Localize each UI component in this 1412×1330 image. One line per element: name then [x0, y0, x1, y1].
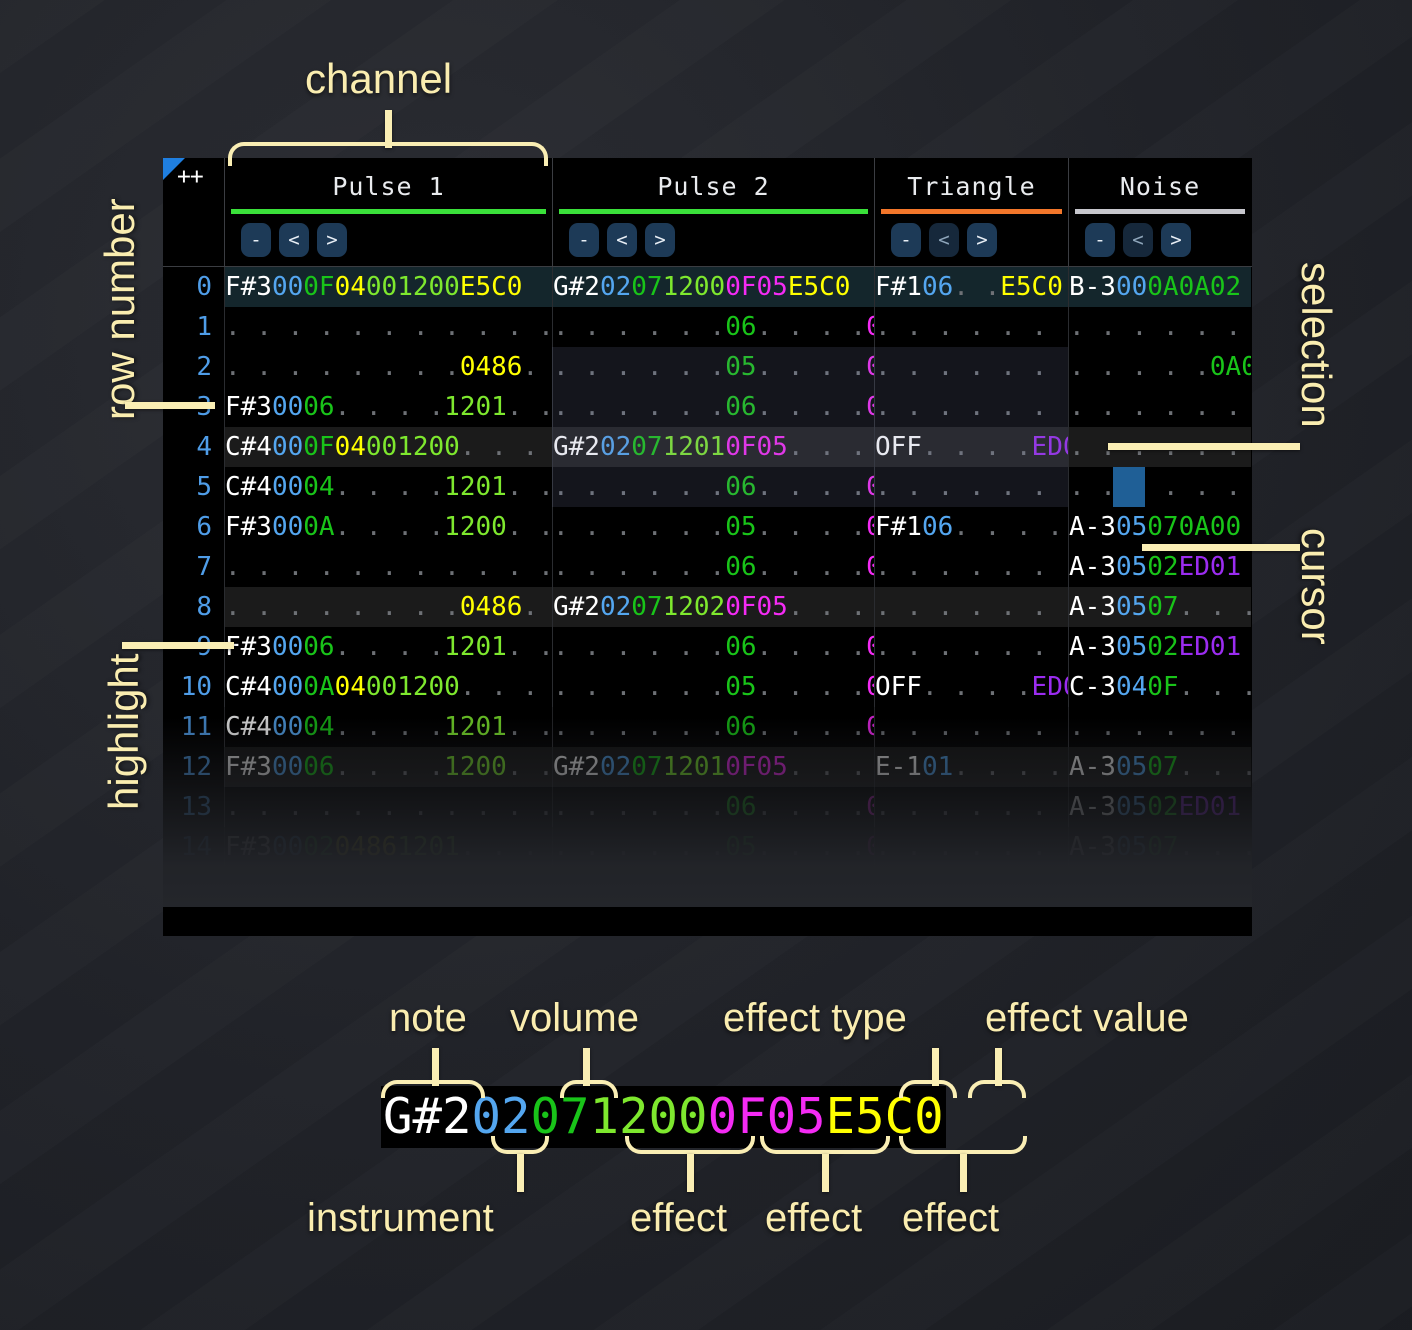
pattern-token-fx3: E5C0 — [788, 272, 851, 302]
pattern-token-vol: 0F — [303, 272, 334, 302]
pattern-cell[interactable]: G#2020712020F05. . . . — [552, 587, 874, 627]
pattern-cell[interactable]: . . . . . . . . . . . — [1068, 307, 1251, 347]
next-button[interactable]: > — [1161, 223, 1191, 257]
pattern-cell[interactable]: . . . . . .06. . . .0F04. . . . — [552, 387, 874, 427]
pattern-cell[interactable]: C-4000CED031200. . . . — [224, 867, 552, 907]
pattern-token-inst: 00 — [272, 392, 303, 422]
pattern-token-dot: . . . . . . . . . . . — [875, 632, 1068, 662]
pattern-token-dot: . . . . — [1179, 592, 1251, 622]
pattern-cell[interactable]: A-30502ED01 — [1068, 867, 1251, 907]
pattern-token-dot: . . . . . . — [553, 832, 725, 862]
pattern-token-fx3: E5C0 — [460, 272, 523, 302]
pattern-token-fxp: ED02 — [1032, 872, 1068, 902]
channel-controls-2[interactable]: -<> — [552, 214, 874, 266]
pattern-token-note: A-3 — [1069, 552, 1116, 582]
pattern-cell[interactable]: A-305070A00 — [1068, 507, 1251, 547]
pattern-cell[interactable]: F#106. .E5C0 — [874, 267, 1068, 307]
channel-header-3[interactable]: Triangle — [874, 158, 1068, 214]
pattern-row[interactable]: 2. . . . . . . .0486. . . . . . . . . ..… — [163, 347, 1252, 387]
pattern-token-inst: 00 — [272, 752, 303, 782]
pattern-token-fxp: ED02 — [1032, 672, 1068, 702]
pattern-token-dot: . . . . — [757, 352, 867, 382]
pattern-token-fxp: ED03 — [335, 872, 398, 902]
pattern-token-fxp: ED02 — [1032, 432, 1068, 462]
annotation-row-number: row number — [96, 198, 144, 420]
pattern-token-vol: 05 — [725, 512, 756, 542]
pattern-token-inst: 05 — [1116, 512, 1147, 542]
pattern-cell[interactable]: C#40004. . . .1201. . . . — [224, 467, 552, 507]
row-number: 10 — [163, 667, 224, 707]
pattern-token-note: C-4 — [225, 872, 272, 902]
pattern-token-note: B-3 — [1069, 272, 1116, 302]
pattern-token-dot: . . . . . . . . — [225, 592, 460, 622]
pattern-token-vol: 0A — [303, 672, 334, 702]
pattern-token-fx2: 0F04 — [866, 312, 874, 342]
pattern-token-dot: . . . . — [335, 392, 445, 422]
channel-controls-4[interactable]: -<> — [1068, 214, 1251, 266]
pattern-token-fx2: 0F05 — [866, 832, 874, 862]
pattern-token-dot: . . . . — [1179, 672, 1251, 702]
pattern-token-inst: 05 — [1116, 872, 1147, 902]
row-number: 8 — [163, 587, 224, 627]
pattern-token-dot: . . . . — [507, 512, 552, 542]
pattern-cell[interactable]: F#30006. . . .1200. . . . — [224, 747, 552, 787]
pattern-token-fx3: 04 — [335, 432, 366, 462]
pattern-token-inst: 05 — [1116, 792, 1147, 822]
pattern-cell[interactable]: G#2020712010F05. . . . — [552, 427, 874, 467]
leader-highlight — [122, 642, 234, 649]
pattern-cell[interactable]: . . . . . . . .0486. . . . . . . . . . — [224, 347, 552, 387]
pattern-cell[interactable]: . . . . . . . .0486. . . . . . . . . . — [224, 587, 552, 627]
pattern-token-note: F#3 — [225, 272, 272, 302]
pattern-token-note: C#4 — [225, 672, 272, 702]
pattern-token-vol: 02 — [1147, 632, 1178, 662]
pattern-token-vol: 0A0A02 — [1147, 272, 1241, 302]
pattern-cell[interactable]: A-30507. . . . — [1068, 747, 1251, 787]
pattern-token-dot: . . . . . . — [553, 632, 725, 662]
pattern-cell[interactable]: . . . . . . . . . . . — [1068, 707, 1251, 747]
pattern-token-inst: 00 — [272, 272, 303, 302]
pattern-token-note: F#1 — [875, 512, 922, 542]
pattern-row[interactable]: 6F#3000A. . . .1200. . . .. . . . . .05.… — [163, 507, 1252, 547]
pattern-token-dot: . . . . . . . . . . . — [875, 712, 1068, 742]
pattern-token-fxp: ED01 — [1179, 632, 1242, 662]
pattern-token-fx1: 1200 — [444, 752, 507, 782]
pattern-row[interactable]: 4C#4000F04001200. . . .G#2020712010F05. … — [163, 427, 1252, 467]
channel-controls-3[interactable]: -<> — [874, 214, 1068, 266]
pattern-cell[interactable]: . . . . . . . . . . . — [224, 547, 552, 587]
pattern-token-note: F#1 — [875, 272, 922, 302]
pattern-cell[interactable]: . . . . . .05. . . .0F05. . . . — [552, 347, 874, 387]
pattern-token-dot: . . . . . . . . . . . — [225, 792, 552, 822]
pattern-token-note: C#4 — [225, 472, 272, 502]
pattern-token-dot: . . . . . . — [553, 672, 725, 702]
pattern-token-dot: . . . . . . . . . . . — [1069, 392, 1251, 422]
pattern-token-fx3: E5C0 — [1000, 272, 1063, 302]
pattern-row[interactable]: 11C#40004. . . .1201. . . .. . . . . .06… — [163, 707, 1252, 747]
pattern-token-vol: 05 — [725, 832, 756, 862]
annotation-channel: channel — [305, 55, 452, 103]
pattern-cell[interactable]: . . . . . . . . . . . — [874, 587, 1068, 627]
pattern-token-fx2: 0F05 — [725, 272, 788, 302]
pattern-token-dot: . . . . — [335, 472, 445, 502]
pattern-cell[interactable]: . . . . .0A01 — [1068, 347, 1251, 387]
row-number: 13 — [163, 787, 224, 827]
pattern-row[interactable]: 3F#30006. . . .1201. . . .. . . . . .06.… — [163, 387, 1252, 427]
row-number: 5 — [163, 467, 224, 507]
pattern-token-fx2: 0F05 — [866, 512, 874, 542]
pattern-token-fxp: ED01 — [1179, 552, 1242, 582]
leader-row-number — [125, 402, 215, 409]
pattern-cell[interactable]: . . . . . . . . . . . — [874, 707, 1068, 747]
prev-button[interactable]: < — [1123, 223, 1153, 257]
channel-header-4[interactable]: Noise — [1068, 158, 1251, 214]
annotation-highlight: highlight — [100, 654, 148, 810]
pattern-row[interactable]: 7. . . . . . . . . . .. . . . . .06. . .… — [163, 547, 1252, 587]
brace-effect-3 — [899, 1136, 1027, 1154]
pattern-cell[interactable]: F#3000A. . . .1200. . . . — [224, 507, 552, 547]
channel-header-2[interactable]: Pulse 2 — [552, 158, 874, 214]
annotation-effect-type: effect type — [723, 996, 907, 1041]
pattern-token-vol: 06 — [725, 392, 756, 422]
pattern-cell[interactable]: . . . . . . . . . . . — [1068, 387, 1251, 427]
pattern-token-note: F#3 — [225, 752, 272, 782]
pattern-token-dot: . . . . — [757, 472, 867, 502]
pattern-cell[interactable]: . . . . . . . . . . . — [874, 387, 1068, 427]
pattern-token-dot: . . . . — [757, 672, 867, 702]
pattern-token-dot: . . . . . . . . . . . — [1069, 472, 1251, 502]
mute-button[interactable]: - — [891, 223, 921, 257]
pattern-token-dot: . . . . — [757, 712, 867, 742]
pattern-cell[interactable]: . . . . . . . . . . . — [874, 547, 1068, 587]
pattern-token-note: E-1 — [875, 752, 922, 782]
pattern-token-note: OFF — [875, 672, 922, 702]
channel-header-row: ++ Pulse 1Pulse 2TriangleNoise — [163, 158, 1252, 214]
pattern-token-vol: 07 — [631, 592, 662, 622]
pattern-cell[interactable]: E-101. . . . . . — [874, 747, 1068, 787]
pattern-token-fx2: 0F04 — [866, 632, 874, 662]
pattern-token-dot: . . . . . . . . . . . — [875, 832, 1068, 862]
pattern-token-dot: . . . . — [335, 632, 445, 662]
pattern-token-dot: . . . . — [757, 312, 867, 342]
pattern-token-dot: . . . . . . — [553, 712, 725, 742]
pattern-token-dot: . . . . . — [1069, 352, 1210, 382]
leader-effect-1 — [687, 1154, 694, 1192]
pattern-token-fxp: ED01 — [1179, 792, 1242, 822]
pattern-token-vol: 0F — [303, 432, 334, 462]
pattern-token-note: OFF — [875, 432, 922, 462]
pattern-token-dot: . . . . — [757, 392, 867, 422]
pattern-cell[interactable]: G#2020712000F05E5C0 — [552, 267, 874, 307]
pattern-token-vol: 02 — [303, 832, 334, 862]
pattern-token-dot: . . . . . . — [553, 312, 725, 342]
pattern-token-note: A-3 — [1069, 752, 1116, 782]
pattern-cell[interactable]: OFF. . . .ED02 — [874, 667, 1068, 707]
pattern-token-inst: 00 — [272, 432, 303, 462]
pattern-token-dot: . . . . — [788, 432, 874, 462]
pattern-token-note: A-3 — [1069, 512, 1116, 542]
pattern-token-fxp: ED01 — [1179, 872, 1242, 902]
pattern-cell[interactable]: G#2020712010F05. . . . — [552, 747, 874, 787]
pattern-token-dot: . . . . — [507, 712, 552, 742]
pattern-cell[interactable]: . . . . . .06. . . .0F04. . . . — [552, 627, 874, 667]
annotation-note: note — [389, 996, 467, 1041]
pattern-token-dot: . . . . . . . . . . . — [1069, 712, 1251, 742]
pattern-token-dot: . . . . . . . . . . . — [875, 352, 1068, 382]
pattern-token-dot: . . . . . . — [553, 392, 725, 422]
channel-header-1[interactable]: Pulse 1 — [224, 158, 552, 214]
pattern-token-inst: 05 — [1116, 552, 1147, 582]
pattern-cell[interactable]: . . . . . . . . . . . — [874, 307, 1068, 347]
pattern-cell[interactable]: A-30502ED01 — [1068, 547, 1251, 587]
pattern-token-fx3: 0486 — [460, 592, 523, 622]
row-number: 1 — [163, 307, 224, 347]
pattern-cell[interactable]: . . . . . .06. . . .0F04. . . . — [552, 467, 874, 507]
pattern-cell[interactable]: F#106. . . . . . — [874, 507, 1068, 547]
pattern-token-vol: 04 — [303, 472, 334, 502]
pattern-token-dot: . . . . . . . . . . . — [875, 392, 1068, 422]
pattern-token-vol: 06 — [303, 752, 334, 782]
next-button[interactable]: > — [967, 223, 997, 257]
pattern-row[interactable]: 9F#30006. . . .1201. . . .. . . . . .06.… — [163, 627, 1252, 667]
pattern-token-dot: . . . . . . . . . . . — [875, 472, 1068, 502]
pattern-token-vol: 0C — [303, 872, 334, 902]
pattern-token-fx2: 0F05 — [866, 352, 874, 382]
pattern-token-dot: . . . . — [757, 552, 867, 582]
pattern-row[interactable]: 12F#30006. . . .1200. . . .G#2020712010F… — [163, 747, 1252, 787]
pattern-token-dot: . . . . . . . . . . . — [1069, 312, 1251, 342]
pattern-token-dot: . . . . . . . . . . . — [875, 552, 1068, 582]
pattern-cell[interactable]: . . . . . .06. . . .0F04. . . . — [552, 547, 874, 587]
pattern-cell[interactable]: . . . . . . . . . . . — [874, 827, 1068, 867]
pattern-token-dot: . . . . — [507, 632, 552, 662]
pattern-token-inst: 06 — [922, 512, 953, 542]
mute-button[interactable]: - — [1085, 223, 1115, 257]
channel-controls-row[interactable]: -<>-<>-<>-<> — [163, 214, 1252, 267]
plusplus-label: ++ — [177, 164, 203, 190]
pattern-token-fx2: 0F04 — [866, 392, 874, 422]
pattern-token-dot: . . . . . . — [953, 752, 1068, 782]
annotation-volume: volume — [510, 996, 639, 1041]
pattern-row[interactable]: 1. . . . . . . . . . .. . . . . .06. . .… — [163, 307, 1252, 347]
pattern-cell[interactable]: . . . . . .06. . . .0F04. . . . — [552, 787, 874, 827]
pattern-cell[interactable]: . . . . . .05. . . .0F05. . . . — [552, 507, 874, 547]
pattern-token-dot: . . — [953, 272, 1000, 302]
pattern-token-dot: . . . . — [1179, 752, 1251, 782]
pattern-token-vol: 06 — [303, 392, 334, 422]
pattern-cell[interactable]: . . . . . .05. . . .0F05. . . . — [552, 667, 874, 707]
channel-name-label: Pulse 1 — [332, 172, 444, 201]
channel-name-label: Triangle — [907, 172, 1035, 201]
pattern-cell[interactable]: F#3000F04001200E5C0 — [224, 267, 552, 307]
pattern-row[interactable]: 14F#3000204861201. . . .. . . . . .05. .… — [163, 827, 1252, 867]
next-button[interactable]: > — [645, 223, 675, 257]
pattern-token-dot: . . . . — [757, 512, 867, 542]
pattern-token-vol: 0F — [1147, 672, 1178, 702]
leader-effect-3 — [960, 1154, 967, 1192]
pattern-token-fx1: 1201 — [444, 472, 507, 502]
pattern-token-dot: . . . . — [460, 832, 552, 862]
pattern-token-fx1: 1200 — [397, 872, 460, 902]
leader-instrument — [517, 1154, 524, 1192]
pattern-token-fx2: 0F05 — [725, 752, 788, 782]
brace-volume — [560, 1080, 618, 1098]
mute-button[interactable]: - — [241, 223, 271, 257]
mute-button[interactable]: - — [569, 223, 599, 257]
pattern-token-dot: . . . . . . — [553, 352, 725, 382]
pattern-token-vol: 05 — [725, 352, 756, 382]
pattern-token-note: A-3 — [1069, 792, 1116, 822]
annotation-effect-2: effect — [765, 1196, 862, 1241]
pattern-token-fx2: 0F04 — [866, 872, 874, 902]
next-button[interactable]: > — [317, 223, 347, 257]
pattern-cell[interactable]: B-3000A0A02 — [1068, 267, 1251, 307]
pattern-row[interactable]: 10C#4000A04001200. . . .. . . . . .05. .… — [163, 667, 1252, 707]
prev-button[interactable]: < — [607, 223, 637, 257]
pattern-cell[interactable]: C#4000F04001200. . . . — [224, 427, 552, 467]
channel-name-label: Noise — [1120, 172, 1200, 201]
pattern-token-note: C-3 — [1069, 672, 1116, 702]
pattern-token-inst: 02 — [600, 432, 631, 462]
pattern-row[interactable]: 5C#40004. . . .1201. . . .. . . . . .06.… — [163, 467, 1252, 507]
channel-level-bar — [559, 209, 868, 214]
pattern-token-fx1: 1202 — [663, 592, 726, 622]
pattern-cell[interactable]: A-30507. . . . — [1068, 587, 1251, 627]
row-number: 15 — [163, 867, 224, 907]
pattern-row[interactable]: 0F#3000F04001200E5C0G#2020712000F05E5C0F… — [163, 267, 1252, 307]
pattern-token-dot: . . . . . . — [553, 512, 725, 542]
pattern-token-inst: 02 — [600, 592, 631, 622]
pattern-row[interactable]: 13. . . . . . . . . . .. . . . . .06. . … — [163, 787, 1252, 827]
pattern-token-fx2: 0F05 — [725, 432, 788, 462]
pattern-token-note: G#2 — [553, 752, 600, 782]
pattern-token-inst: 00 — [272, 832, 303, 862]
pattern-token-dot: . . . . . . . . . . . — [225, 312, 552, 342]
pattern-token-fx1: 1201 — [444, 392, 507, 422]
pattern-token-inst: 04 — [1116, 672, 1147, 702]
pattern-token-note: G#2 — [553, 592, 600, 622]
brace-note — [381, 1080, 485, 1098]
row-number: 12 — [163, 747, 224, 787]
pattern-token-inst: 01 — [922, 752, 953, 782]
pattern-token-fx2: 0F05 — [725, 592, 788, 622]
channel-controls-1[interactable]: -<> — [224, 214, 552, 266]
pattern-token-dot: . . . . . . — [553, 872, 725, 902]
channel-level-bar — [881, 209, 1062, 214]
pattern-token-dot: . . . . — [460, 872, 552, 902]
pattern-cell[interactable]: A-30502ED01 — [1068, 627, 1251, 667]
leader-effect-2 — [822, 1154, 829, 1192]
pattern-token-dot: . . . . — [460, 432, 552, 462]
pattern-token-inst: 00 — [1116, 272, 1147, 302]
row-number: 14 — [163, 827, 224, 867]
pattern-token-vol: 06 — [725, 472, 756, 502]
pattern-token-vol: 06 — [725, 312, 756, 342]
pattern-cell[interactable]: . . . . . .06. . . .0F04. . . . — [552, 307, 874, 347]
pattern-token-fx3: 04 — [335, 672, 366, 702]
pattern-cell[interactable]: C-3040F. . . . — [1068, 667, 1251, 707]
row-number: 11 — [163, 707, 224, 747]
pattern-token-note: C#4 — [225, 432, 272, 462]
pattern-cell[interactable]: F#30006. . . .1201. . . . — [224, 387, 552, 427]
brace-effect-type — [899, 1080, 957, 1098]
pattern-cell[interactable]: OFF. . . .ED02 — [874, 427, 1068, 467]
annotation-effect-3: effect — [902, 1196, 999, 1241]
brace-effect-2 — [760, 1136, 890, 1154]
row-number: 6 — [163, 507, 224, 547]
pattern-token-vol: 07 — [631, 432, 662, 462]
pattern-cell[interactable]: . . . . . .05. . . .0F05. . . . — [552, 827, 874, 867]
leader-selection — [1108, 443, 1300, 450]
pattern-token-fx2: 0F04 — [866, 552, 874, 582]
pattern-cell[interactable]: . . . . . . . . . . . — [874, 347, 1068, 387]
pattern-token-dot: . . . . . . . . . . — [522, 352, 552, 382]
pattern-token-vol: 06 — [725, 792, 756, 822]
leader-cursor — [1142, 544, 1300, 551]
pattern-token-vol: 06 — [725, 552, 756, 582]
pattern-cell[interactable]: . . . . . . . . . . . — [874, 787, 1068, 827]
channel-name-label: Pulse 2 — [657, 172, 769, 201]
pattern-token-note: F#3 — [225, 512, 272, 542]
pattern-cell[interactable]: C#4000A04001200. . . . — [224, 667, 552, 707]
pattern-cell[interactable]: . . . . . . . . . . . — [874, 627, 1068, 667]
pattern-cell[interactable]: C#40004. . . .1201. . . . — [224, 707, 552, 747]
pattern-token-vol: 06 — [725, 872, 756, 902]
pattern-token-inst: 00 — [272, 472, 303, 502]
pattern-cell[interactable]: . . . . . . . . . . . — [224, 307, 552, 347]
pattern-cell[interactable]: . . . . . .06. . . .0F04. . . . — [552, 867, 874, 907]
pattern-cell[interactable]: F#3000204861201. . . . — [224, 827, 552, 867]
pattern-token-dot: . . . . — [922, 672, 1032, 702]
pattern-token-inst: 00 — [272, 672, 303, 702]
pattern-token-fx1: 1201 — [397, 832, 460, 862]
pattern-editor[interactable]: ++ Pulse 1Pulse 2TriangleNoise -<>-<>-<>… — [163, 158, 1252, 936]
brace-channel — [228, 142, 548, 166]
pattern-cell[interactable]: A-30507. . . . — [1068, 827, 1251, 867]
row-number: 4 — [163, 427, 224, 467]
row-number: 7 — [163, 547, 224, 587]
pattern-cell[interactable]: . . . . . . . . . . . — [224, 787, 552, 827]
pattern-cell[interactable]: . . . . . .06. . . .0F04. . . . — [552, 707, 874, 747]
pattern-token-dot: . . . . . . . . . . . — [875, 312, 1068, 342]
pattern-token-dot: . . . . — [757, 632, 867, 662]
pattern-cell[interactable]: OFF. . . .ED02 — [874, 867, 1068, 907]
pattern-cell[interactable]: . . . . . . . . . . . — [1068, 467, 1251, 507]
pattern-cell[interactable]: . . . . . . . . . . . — [874, 467, 1068, 507]
pattern-token-vol: 07 — [1147, 832, 1178, 862]
pattern-grid[interactable]: 0F#3000F04001200E5C0G#2020712000F05E5C0F… — [163, 267, 1252, 907]
pattern-token-fx1: 1201 — [444, 712, 507, 742]
pattern-token-fx1: 1201 — [663, 752, 726, 782]
pattern-token-vol: 05 — [725, 672, 756, 702]
pattern-token-inst: 02 — [600, 752, 631, 782]
prev-button[interactable]: < — [929, 223, 959, 257]
pattern-token-note: A-3 — [1069, 632, 1116, 662]
pattern-token-dot: . . . . — [335, 512, 445, 542]
pattern-cell[interactable]: A-30502ED01 — [1068, 787, 1251, 827]
brace-effect-value — [968, 1080, 1026, 1098]
channel-level-bar — [231, 209, 546, 214]
pattern-token-fx3: 04 — [335, 272, 366, 302]
pattern-token-dot: . . . . . . — [953, 512, 1068, 542]
pattern-token-dot: . . . . — [757, 832, 867, 862]
prev-button[interactable]: < — [279, 223, 309, 257]
channel-level-bar — [1075, 209, 1245, 214]
pattern-row[interactable]: 8. . . . . . . .0486. . . . . . . . . .G… — [163, 587, 1252, 627]
pattern-cell[interactable]: F#30006. . . .1201. . . . — [224, 627, 552, 667]
controls-spacer — [163, 214, 224, 266]
pattern-token-inst: 05 — [1116, 592, 1147, 622]
